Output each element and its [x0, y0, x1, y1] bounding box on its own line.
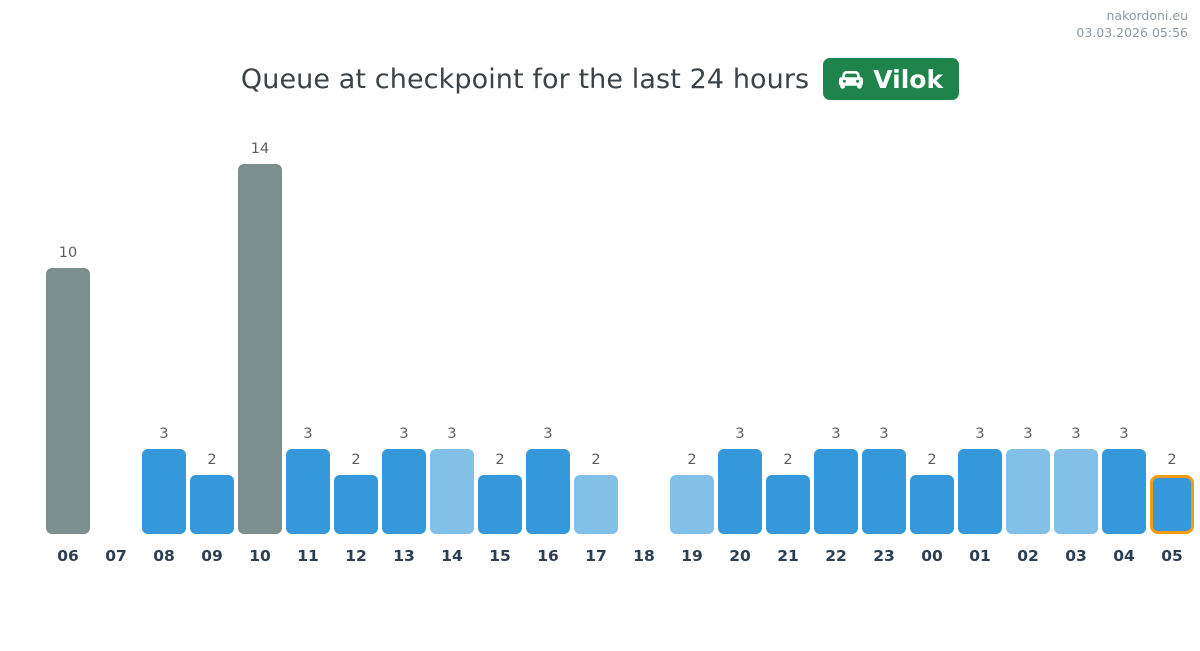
bar-value-label: 2: [351, 453, 360, 468]
x-axis-tick-label: 01: [956, 549, 1004, 565]
bar-chart: 103214323323223233233332 060708091011121…: [44, 140, 1188, 605]
x-axis-tick-label: 09: [188, 549, 236, 565]
x-axis-tick-label: 06: [44, 549, 92, 565]
x-axis-tick-label: 20: [716, 549, 764, 565]
bar-column[interactable]: 3: [524, 140, 572, 534]
bar[interactable]: [814, 449, 858, 534]
x-axis-tick-label: 21: [764, 549, 812, 565]
x-axis-tick-label: 00: [908, 549, 956, 565]
bar[interactable]: [334, 475, 378, 534]
bar-value-label: 3: [159, 427, 168, 442]
bar[interactable]: [526, 449, 570, 534]
bar-value-label: 10: [59, 246, 77, 261]
bar[interactable]: [430, 449, 474, 534]
x-axis-tick-label: 02: [1004, 549, 1052, 565]
page-meta: nakordoni.eu 03.03.2026 05:56: [1076, 8, 1188, 42]
bar-column[interactable]: [92, 140, 140, 534]
bar-value-label: 2: [783, 453, 792, 468]
bar[interactable]: [958, 449, 1002, 534]
x-axis-tick-label: 04: [1100, 549, 1148, 565]
bar-value-label: 2: [495, 453, 504, 468]
bar[interactable]: [766, 475, 810, 534]
chart-header: Queue at checkpoint for the last 24 hour…: [0, 58, 1200, 100]
bar-column[interactable]: 2: [1148, 140, 1196, 534]
bar-column[interactable]: 2: [908, 140, 956, 534]
bar-column[interactable]: 3: [428, 140, 476, 534]
bar-column[interactable]: 3: [380, 140, 428, 534]
bar[interactable]: [1006, 449, 1050, 534]
bar-value-label: 2: [207, 453, 216, 468]
bar[interactable]: [382, 449, 426, 534]
x-axis-tick-label: 07: [92, 549, 140, 565]
page-title: Queue at checkpoint for the last 24 hour…: [241, 64, 809, 95]
site-name: nakordoni.eu: [1076, 8, 1188, 25]
bar-value-label: 3: [303, 427, 312, 442]
bar[interactable]: [1054, 449, 1098, 534]
bar[interactable]: [478, 475, 522, 534]
bar-value-label: 2: [687, 453, 696, 468]
bar-value-label: 2: [1167, 453, 1176, 468]
bar-value-label: 3: [1023, 427, 1032, 442]
bar-column[interactable]: 2: [764, 140, 812, 534]
x-axis-tick-label: 22: [812, 549, 860, 565]
bar-column[interactable]: 3: [1004, 140, 1052, 534]
x-axis: 0607080910111213141516171819202122230001…: [44, 549, 1188, 565]
bar-value-label: 2: [927, 453, 936, 468]
bar-column[interactable]: 2: [188, 140, 236, 534]
bar[interactable]: [670, 475, 714, 534]
bar[interactable]: [190, 475, 234, 534]
x-axis-tick-label: 16: [524, 549, 572, 565]
bar-value-label: 3: [975, 427, 984, 442]
bar-value-label: 14: [251, 142, 269, 157]
bar[interactable]: [718, 449, 762, 534]
bar[interactable]: [142, 449, 186, 534]
bar-value-label: 3: [1119, 427, 1128, 442]
bar[interactable]: [574, 475, 618, 534]
x-axis-tick-label: 13: [380, 549, 428, 565]
bar-value-label: 3: [447, 427, 456, 442]
bar[interactable]: [286, 449, 330, 534]
bar-value-label: 3: [1071, 427, 1080, 442]
x-axis-tick-label: 10: [236, 549, 284, 565]
x-axis-tick-label: 12: [332, 549, 380, 565]
bar-column[interactable]: 3: [1052, 140, 1100, 534]
bar-column[interactable]: 3: [860, 140, 908, 534]
bar-column[interactable]: 2: [668, 140, 716, 534]
bar-column[interactable]: 2: [332, 140, 380, 534]
bar-column[interactable]: 3: [956, 140, 1004, 534]
bar-column[interactable]: 3: [1100, 140, 1148, 534]
bar[interactable]: [46, 268, 90, 534]
x-axis-tick-label: 14: [428, 549, 476, 565]
bar-column[interactable]: 3: [716, 140, 764, 534]
bar-column[interactable]: 2: [476, 140, 524, 534]
x-axis-tick-label: 17: [572, 549, 620, 565]
x-axis-tick-label: 05: [1148, 549, 1196, 565]
bar-value-label: 3: [735, 427, 744, 442]
bar-value-label: 2: [591, 453, 600, 468]
bars-container: 103214323323223233233332: [44, 140, 1188, 534]
bar-column[interactable]: 14: [236, 140, 284, 534]
bar[interactable]: [1102, 449, 1146, 534]
bar-column[interactable]: 3: [140, 140, 188, 534]
checkpoint-badge[interactable]: Vilok: [823, 58, 959, 100]
x-axis-tick-label: 03: [1052, 549, 1100, 565]
bar-value-label: 3: [543, 427, 552, 442]
x-axis-tick-label: 15: [476, 549, 524, 565]
x-axis-tick-label: 11: [284, 549, 332, 565]
bar[interactable]: [238, 164, 282, 534]
x-axis-tick-label: 19: [668, 549, 716, 565]
bar-column[interactable]: 2: [572, 140, 620, 534]
bar[interactable]: [1150, 475, 1194, 534]
x-axis-tick-label: 23: [860, 549, 908, 565]
bar-column[interactable]: 10: [44, 140, 92, 534]
chart-page: nakordoni.eu 03.03.2026 05:56 Queue at c…: [0, 0, 1200, 651]
bar[interactable]: [910, 475, 954, 534]
x-axis-tick-label: 18: [620, 549, 668, 565]
bar-column[interactable]: 3: [284, 140, 332, 534]
bar[interactable]: [862, 449, 906, 534]
x-axis-tick-label: 08: [140, 549, 188, 565]
bar-value-label: 3: [399, 427, 408, 442]
car-icon: [837, 68, 865, 90]
timestamp: 03.03.2026 05:56: [1076, 25, 1188, 42]
badge-label: Vilok: [873, 67, 943, 92]
bar-value-label: 3: [831, 427, 840, 442]
bar-column[interactable]: [620, 140, 668, 534]
bar-column[interactable]: 3: [812, 140, 860, 534]
bar-value-label: 3: [879, 427, 888, 442]
